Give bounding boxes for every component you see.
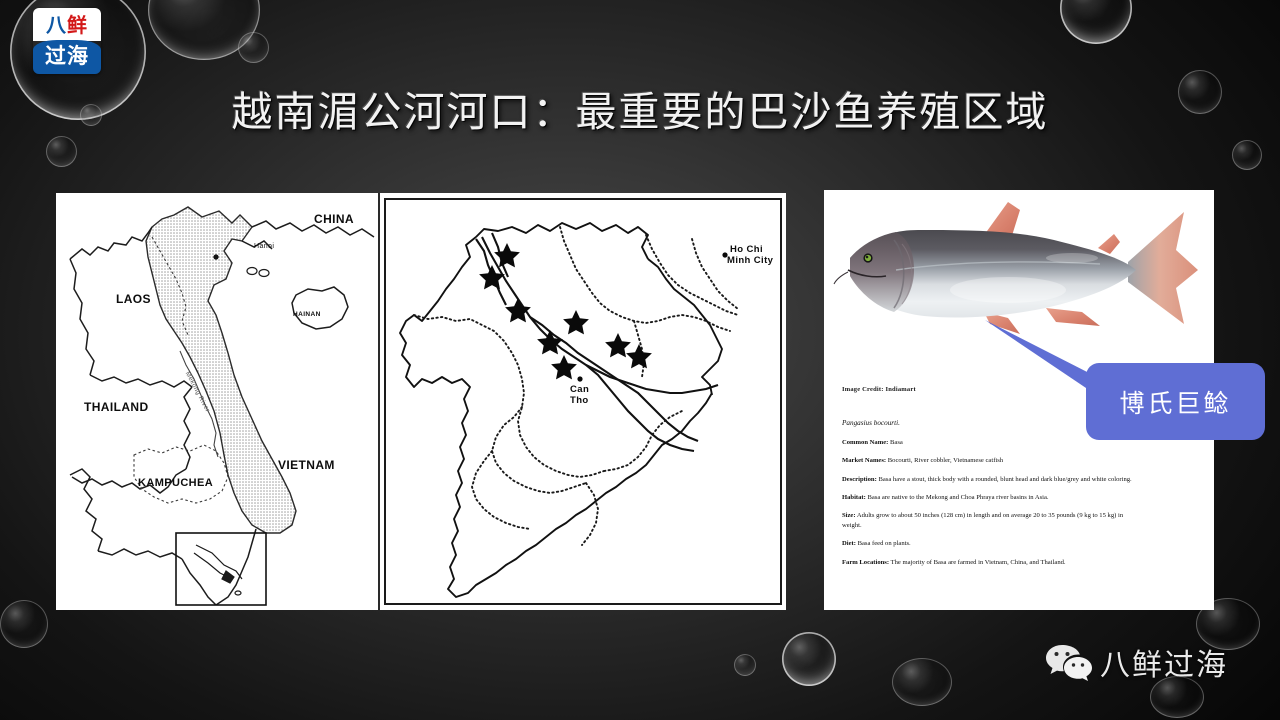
fish-factsheet-text: Pangasius bocourti. Common Name: Basa Ma… xyxy=(842,418,1144,576)
map-label: Minh City xyxy=(727,256,773,266)
bubble-icon xyxy=(1060,0,1132,44)
fact-value: Basa have a stout, thick body with a rou… xyxy=(877,476,1132,483)
map-label: KAMPUCHEA xyxy=(138,478,213,490)
fact-row: Diet: Basa feed on plants. xyxy=(842,539,1144,549)
bubble-icon xyxy=(734,654,756,676)
maps-panel: CHINA Hanoi LAOS HAINAN THAILAND VIETNAM… xyxy=(56,193,786,610)
farm-site-star xyxy=(479,265,505,289)
slide-canvas: 八鲜 过海 越南湄公河河口：最重要的巴沙鱼养殖区域 xyxy=(0,0,1280,720)
fact-label: Market Names: xyxy=(842,457,886,464)
map-label: HAINAN xyxy=(293,312,321,319)
farm-site-star xyxy=(563,310,589,334)
city-dot-cantho xyxy=(577,376,582,381)
farm-site-star xyxy=(505,298,531,322)
fact-label: Habitat: xyxy=(842,494,866,501)
wechat-icon xyxy=(1045,642,1093,682)
fact-label: Common Name: xyxy=(842,439,888,446)
fact-value: Basa feed on plants. xyxy=(856,540,911,547)
fact-row: Habitat: Basa are native to the Mekong a… xyxy=(842,493,1144,503)
farm-site-markers xyxy=(479,243,652,379)
farm-site-star xyxy=(626,344,652,368)
callout-label[interactable]: 博氏巨鲶 xyxy=(1086,363,1265,440)
watermark-text: 八鲜过海 xyxy=(1100,640,1228,684)
fact-label: Farm Locations: xyxy=(842,559,889,566)
bubble-icon xyxy=(782,632,836,686)
callout-tail xyxy=(985,318,1095,390)
fact-value: Basa xyxy=(888,439,902,446)
indochina-map: CHINA Hanoi LAOS HAINAN THAILAND VIETNAM… xyxy=(56,193,378,610)
callout-text: 博氏巨鲶 xyxy=(1086,363,1265,440)
farm-site-star xyxy=(537,330,563,354)
fact-row: Description: Basa have a stout, thick bo… xyxy=(842,475,1144,485)
logo-line-1: 八鲜 xyxy=(33,12,101,40)
city-dot-hanoi xyxy=(213,254,218,259)
fact-row: Farm Locations: The majority of Basa are… xyxy=(842,558,1144,568)
map-label: THAILAND xyxy=(84,401,149,414)
fact-value: Adults grow to about 50 inches (128 cm) … xyxy=(842,512,1123,529)
bubble-icon xyxy=(892,658,952,706)
map-label: LAOS xyxy=(116,293,151,306)
page-title: 越南湄公河河口：最重要的巴沙鱼养殖区域 xyxy=(0,78,1280,138)
image-credit: Image Credit: Indiamart xyxy=(842,386,916,393)
map-label: Ho Chi xyxy=(730,245,763,255)
logo-line-2: 过海 xyxy=(33,43,101,70)
brand-logo: 八鲜 过海 xyxy=(33,8,101,74)
fact-value: Bocourti, River cobbler, Vietnamese catf… xyxy=(886,457,1003,464)
map-label: CHINA xyxy=(314,213,354,226)
map-label: VIETNAM xyxy=(278,459,335,472)
farm-site-star xyxy=(551,355,577,379)
fact-label: Description: xyxy=(842,476,877,483)
fact-label: Diet: xyxy=(842,540,856,547)
map-label: Hanoi xyxy=(254,243,274,250)
fact-label: Size: xyxy=(842,512,856,519)
mekong-delta-map: Ho Chi Minh City Can Tho xyxy=(378,193,788,610)
watermark: 八鲜过海 xyxy=(1045,640,1228,684)
bubble-icon xyxy=(0,600,48,648)
map-label: Can xyxy=(570,385,589,395)
bubble-icon xyxy=(238,32,269,63)
bubble-icon xyxy=(46,136,77,167)
fact-row: Market Names: Bocourti, River cobbler, V… xyxy=(842,456,1144,466)
map-label: Tho xyxy=(570,396,589,406)
fact-value: The majority of Basa are farmed in Vietn… xyxy=(889,559,1066,566)
fact-value: Basa are native to the Mekong and Choa P… xyxy=(866,494,1049,501)
bubble-icon xyxy=(1232,140,1262,170)
logo-char-xian: 鲜 xyxy=(67,15,88,37)
logo-char-ba: 八 xyxy=(46,15,67,37)
fact-row: Size: Adults grow to about 50 inches (12… xyxy=(842,511,1144,531)
bubble-icon xyxy=(148,0,260,60)
